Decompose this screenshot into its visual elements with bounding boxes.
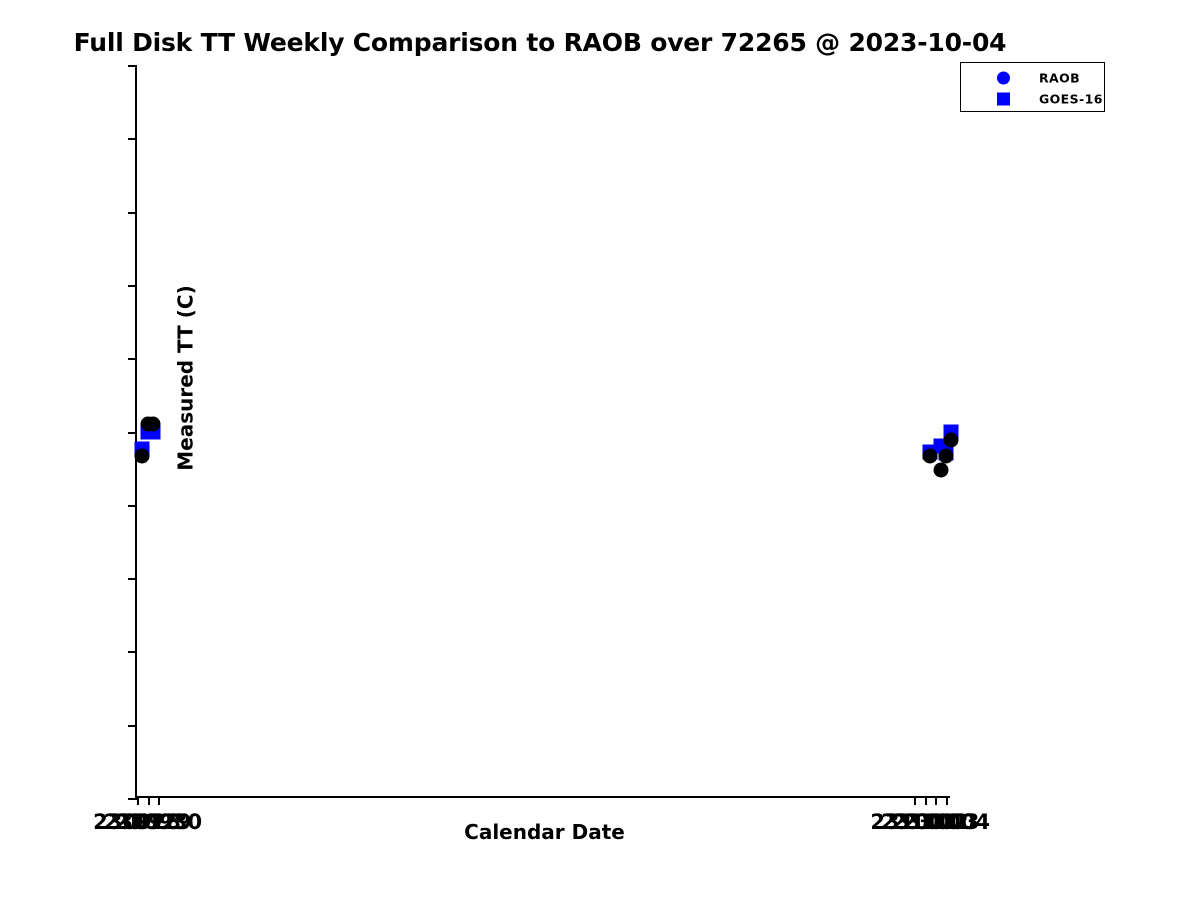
legend-marker-circle-icon (997, 72, 1010, 85)
legend-marker-square-icon (997, 93, 1010, 106)
y-axis-tick (128, 432, 137, 434)
data-point-raob (145, 417, 160, 432)
chart-legend: RAOBGOES-16 (960, 62, 1105, 112)
legend-label: GOES-16 (1039, 92, 1103, 107)
y-axis-tick (128, 725, 137, 727)
data-point-raob (933, 462, 948, 477)
y-axis-label: Measured TT (C) (174, 12, 198, 745)
legend-entry: GOES-16 (961, 88, 1106, 110)
chart-title: Full Disk TT Weekly Comparison to RAOB o… (0, 28, 1080, 57)
x-axis-tick (914, 796, 916, 805)
y-axis-tick (128, 505, 137, 507)
x-axis-tick (946, 796, 948, 805)
data-point-raob (944, 433, 959, 448)
plot-area: Measured TT (C) Calendar Date 0102030405… (135, 65, 950, 798)
x-axis-tick (137, 796, 139, 805)
x-axis-tick (925, 796, 927, 805)
y-axis-tick (128, 798, 137, 800)
data-point-raob (939, 449, 954, 464)
y-axis-tick (128, 358, 137, 360)
x-axis-tick-label: 230930 (58, 810, 258, 834)
x-axis-tick (158, 796, 160, 805)
y-axis-tick (128, 651, 137, 653)
data-point-raob (135, 449, 150, 464)
x-axis-tick (148, 796, 150, 805)
legend-label: RAOB (1039, 71, 1080, 86)
plot-canvas (137, 65, 952, 798)
legend-entry: RAOB (961, 67, 1106, 89)
y-axis-tick (128, 65, 137, 67)
y-axis-tick (128, 285, 137, 287)
y-axis-tick (128, 138, 137, 140)
chart-figure: Full Disk TT Weekly Comparison to RAOB o… (0, 0, 1200, 900)
y-axis-tick (128, 578, 137, 580)
x-axis-tick (935, 796, 937, 805)
x-axis-tick-label: 231004 (846, 810, 1046, 834)
y-axis-tick (128, 212, 137, 214)
data-point-raob (923, 448, 938, 463)
